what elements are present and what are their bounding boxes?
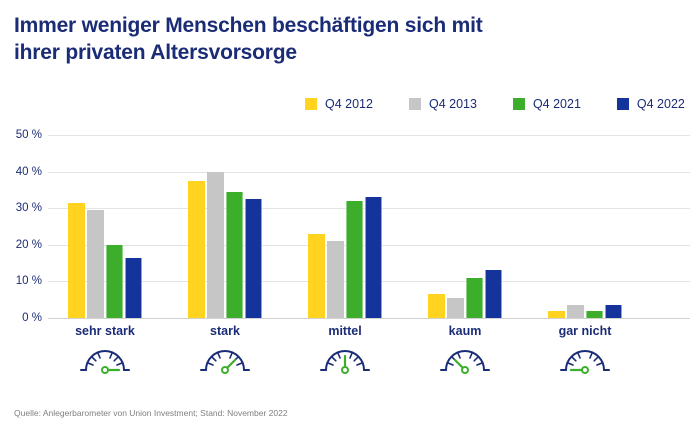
bar-q4-2021-kaum bbox=[466, 278, 483, 318]
page-title-line-1: Immer weniger Menschen beschäftigen sich… bbox=[14, 12, 614, 39]
y-axis-tick-label: 20 % bbox=[2, 239, 42, 251]
legend-item-label: Q4 2021 bbox=[533, 97, 581, 111]
bar-q4-2013-stark bbox=[207, 172, 224, 318]
bar-q4-2013-mittel bbox=[327, 241, 344, 318]
category-label: kaum bbox=[405, 324, 525, 338]
bar-q4-2021-mittel bbox=[346, 201, 363, 318]
legend-item-q4-2013: Q4 2013 bbox=[409, 97, 477, 111]
y-axis-tick-label: 40 % bbox=[2, 166, 42, 178]
bar-q4-2012-gar-nicht bbox=[548, 311, 565, 318]
bar-q4-2022-stark bbox=[245, 199, 262, 318]
gridline-0 bbox=[48, 318, 690, 319]
source-note: Quelle: Anlegerbarometer von Union Inves… bbox=[14, 408, 288, 418]
gauge-kaum-icon bbox=[438, 344, 492, 378]
chart-legend: Q4 2012Q4 2013Q4 2021Q4 2022 bbox=[305, 95, 685, 113]
category-label: stark bbox=[165, 324, 285, 338]
chart-plot-area: 0 %10 %20 %30 %40 %50 % bbox=[48, 135, 690, 318]
legend-item-label: Q4 2012 bbox=[325, 97, 373, 111]
y-axis-tick-label: 0 % bbox=[2, 312, 42, 324]
legend-item-q4-2021: Q4 2021 bbox=[513, 97, 581, 111]
bar-q4-2013-gar-nicht bbox=[567, 305, 584, 318]
bar-q4-2022-kaum bbox=[485, 270, 502, 318]
bar-q4-2013-kaum bbox=[447, 298, 464, 318]
legend-item-label: Q4 2022 bbox=[637, 97, 685, 111]
y-axis-tick-label: 50 % bbox=[2, 129, 42, 141]
bar-q4-2012-mittel bbox=[308, 234, 325, 318]
category-label: sehr stark bbox=[45, 324, 165, 338]
bar-q4-2021-sehr-stark bbox=[106, 245, 123, 318]
bar-q4-2012-sehr-stark bbox=[68, 203, 85, 318]
category-label: gar nicht bbox=[525, 324, 645, 338]
gauge-gar-nicht-icon bbox=[558, 344, 612, 378]
page-title: Immer weniger Menschen beschäftigen sich… bbox=[14, 12, 614, 66]
gauge-sehr-stark-icon bbox=[78, 344, 132, 378]
y-axis-tick-label: 30 % bbox=[2, 202, 42, 214]
bar-q4-2013-sehr-stark bbox=[87, 210, 104, 318]
legend-swatch-icon bbox=[513, 98, 525, 110]
y-axis-tick-label: 10 % bbox=[2, 275, 42, 287]
legend-item-label: Q4 2013 bbox=[429, 97, 477, 111]
bar-q4-2022-mittel bbox=[365, 197, 382, 318]
gauge-stark-icon bbox=[198, 344, 252, 378]
bar-q4-2021-gar-nicht bbox=[586, 311, 603, 318]
bar-group-mittel bbox=[308, 135, 384, 318]
category-kaum: kaum bbox=[405, 324, 525, 378]
gauge-mittel-icon bbox=[318, 344, 372, 378]
chart-page: Immer weniger Menschen beschäftigen sich… bbox=[0, 0, 700, 432]
category-gar-nicht: gar nicht bbox=[525, 324, 645, 378]
bar-q4-2021-stark bbox=[226, 192, 243, 318]
bar-q4-2012-stark bbox=[188, 181, 205, 318]
category-mittel: mittel bbox=[285, 324, 405, 378]
bar-group-stark bbox=[188, 135, 264, 318]
bar-q4-2022-gar-nicht bbox=[605, 305, 622, 318]
bar-group-gar-nicht bbox=[548, 135, 624, 318]
legend-item-q4-2012: Q4 2012 bbox=[305, 97, 373, 111]
category-sehr-stark: sehr stark bbox=[45, 324, 165, 378]
page-title-line-2: ihrer privaten Altersvorsorge bbox=[14, 39, 614, 66]
legend-swatch-icon bbox=[409, 98, 421, 110]
legend-swatch-icon bbox=[617, 98, 629, 110]
bar-q4-2012-kaum bbox=[428, 294, 445, 318]
legend-item-q4-2022: Q4 2022 bbox=[617, 97, 685, 111]
category-stark: stark bbox=[165, 324, 285, 378]
bar-group-kaum bbox=[428, 135, 504, 318]
bar-q4-2022-sehr-stark bbox=[125, 258, 142, 318]
bar-group-sehr-stark bbox=[68, 135, 144, 318]
category-label: mittel bbox=[285, 324, 405, 338]
legend-swatch-icon bbox=[305, 98, 317, 110]
